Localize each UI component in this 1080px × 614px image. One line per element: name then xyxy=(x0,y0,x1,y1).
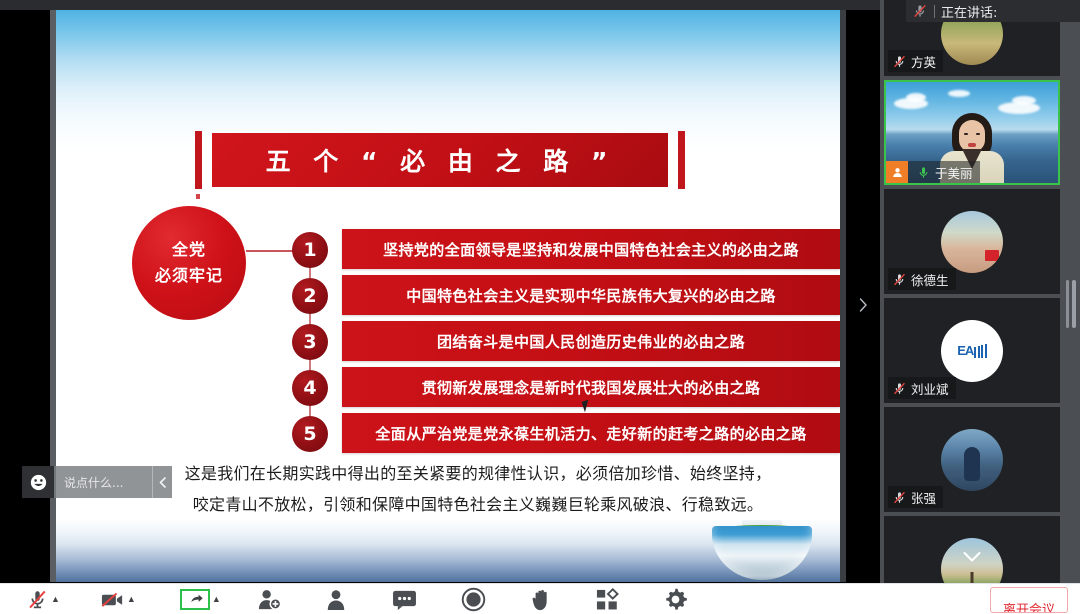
title-accent-right xyxy=(678,131,685,189)
banner-divider xyxy=(934,5,935,18)
participant-tile[interactable]: EA 刘业斌 xyxy=(884,298,1060,403)
item-number: 2 xyxy=(292,278,328,314)
chevron-up-icon[interactable]: ▲ xyxy=(212,595,221,604)
mic-muted-icon[interactable] xyxy=(26,588,49,611)
mic-muted-icon xyxy=(912,3,928,19)
item-text: 团结奋斗是中国人民创造历史伟业的必由之路 xyxy=(437,331,745,352)
globe-bowl-decoration xyxy=(708,520,816,582)
slide-title-banner: 五 个 “ 必 由 之 路 ” xyxy=(195,131,685,189)
participant-name: 张强 xyxy=(911,488,936,507)
sidebar-scrollbar-thumb[interactable] xyxy=(1072,280,1076,328)
participants-button[interactable] xyxy=(324,584,348,614)
participant-name-chip: 于美丽 xyxy=(886,161,980,183)
record-circle-icon[interactable] xyxy=(461,587,486,612)
person-icon[interactable] xyxy=(324,588,348,611)
participant-name-chip: 张强 xyxy=(888,486,943,508)
slide-badge-circle: 全党 必须牢记 xyxy=(132,206,246,320)
share-screen-icon[interactable] xyxy=(180,589,210,610)
item-bar: 中国特色社会主义是实现中华民族伟大复兴的必由之路 xyxy=(342,275,840,315)
leave-meeting-label: 离开会议 xyxy=(1003,599,1055,614)
shared-window-titlebar xyxy=(0,0,880,10)
meeting-window: 五 个 “ 必 由 之 路 ” 全党 必须牢记 1 坚持党的全面领导是坚持和发展… xyxy=(0,0,1080,614)
chat-button[interactable] xyxy=(392,584,417,614)
speaking-now-banner: 正在讲话: xyxy=(906,0,1080,22)
participant-tile[interactable]: 徐德生 xyxy=(884,189,1060,294)
mic-muted-icon xyxy=(892,54,907,69)
slide-paragraph: 这是我们在长期实践中得出的至关紧要的规律性认识，必须倍加珍惜、始终坚持， 咬定青… xyxy=(128,458,828,520)
stop-video-button[interactable]: ▲ xyxy=(100,584,136,614)
slide-list-item: 4 贯彻新发展理念是新时代我国发展壮大的必由之路 xyxy=(292,367,840,413)
item-text: 中国特色社会主义是实现中华民族伟大复兴的必由之路 xyxy=(406,285,776,306)
chevron-up-icon[interactable]: ▲ xyxy=(51,595,60,604)
badge-line-2: 必须牢记 xyxy=(155,263,223,289)
participant-name: 方英 xyxy=(911,52,936,71)
item-number: 1 xyxy=(292,232,328,268)
paragraph-line-1: 这是我们在长期实践中得出的至关紧要的规律性认识，必须倍加珍惜、始终坚持， xyxy=(128,458,828,489)
speaking-now-label: 正在讲话: xyxy=(941,2,997,21)
slide-list-item: 2 中国特色社会主义是实现中华民族伟大复兴的必由之路 xyxy=(292,275,840,321)
title-accent-left xyxy=(195,131,202,189)
participant-name: 于美丽 xyxy=(935,163,973,182)
chevron-left-icon xyxy=(159,477,166,488)
leave-meeting-button[interactable]: 离开会议 xyxy=(990,587,1068,613)
participants-sidebar: 正在讲话: 方英 xyxy=(880,0,1080,583)
participant-name-chip: 徐德生 xyxy=(888,268,956,290)
item-text: 坚持党的全面领导是坚持和发展中国特色社会主义的必由之路 xyxy=(383,239,799,260)
mic-muted-icon xyxy=(892,381,907,396)
slide-item-list: 1 坚持党的全面领导是坚持和发展中国特色社会主义的必由之路 2 中国特色社会主义… xyxy=(292,229,840,459)
slide-title: 五 个 “ 必 由 之 路 ” xyxy=(266,142,615,178)
chat-bubble-icon[interactable] xyxy=(392,589,417,610)
item-number: 4 xyxy=(292,370,328,406)
host-badge xyxy=(886,161,908,183)
settings-button[interactable] xyxy=(663,584,688,614)
participant-name-chip: 方英 xyxy=(888,50,943,72)
slide-list-item: 3 团结奋斗是中国人民创造历史伟业的必由之路 xyxy=(292,321,840,367)
bowl-body xyxy=(712,526,812,580)
item-text: 全面从严治党是党永葆生机活力、走好新的赶考之路的必由之路 xyxy=(375,423,806,444)
apps-grid-icon[interactable] xyxy=(595,588,619,611)
raise-hand-icon[interactable] xyxy=(530,588,553,612)
shared-window-right-edge xyxy=(840,10,846,582)
meeting-toolbar: ▲ ▲ xyxy=(0,583,1080,614)
participant-name: 徐德生 xyxy=(911,270,949,289)
mic-active-icon xyxy=(916,165,931,180)
chevron-right-icon xyxy=(859,298,868,312)
chevron-up-icon[interactable]: ▲ xyxy=(127,595,136,604)
eaw-logo-icon: EA xyxy=(957,343,987,358)
raise-hand-button[interactable] xyxy=(530,584,553,614)
gear-icon[interactable] xyxy=(663,587,688,612)
participant-name: 刘业斌 xyxy=(911,379,949,398)
person-icon xyxy=(891,166,904,179)
participant-tile-active-speaker[interactable]: 于美丽 xyxy=(884,80,1060,185)
participant-tile-list: 方英 xyxy=(884,0,1070,583)
participant-tile[interactable] xyxy=(884,516,1060,583)
avatar xyxy=(941,429,1003,491)
chat-input-placeholder: 说点什么... xyxy=(64,474,123,491)
title-tick-mark xyxy=(196,194,200,199)
add-person-icon[interactable] xyxy=(257,588,282,611)
item-text: 贯彻新发展理念是新时代我国发展壮大的必由之路 xyxy=(422,377,761,398)
chat-input[interactable]: 说点什么... xyxy=(54,466,152,498)
item-bar: 全面从严治党是党永葆生机活力、走好新的赶考之路的必由之路 xyxy=(342,413,840,453)
presentation-slide: 五 个 “ 必 由 之 路 ” 全党 必须牢记 1 坚持党的全面领导是坚持和发展… xyxy=(56,10,840,582)
sidebar-scrollbar-track[interactable] xyxy=(1066,280,1069,328)
shared-screen-stage: 五 个 “ 必 由 之 路 ” 全党 必须牢记 1 坚持党的全面领导是坚持和发展… xyxy=(0,0,880,583)
chat-entry-bar[interactable]: 说点什么... xyxy=(22,466,172,498)
paragraph-line-2: 咬定青山不放松，引领和保障中国特色社会主义巍巍巨轮乘风破浪、行稳致远。 xyxy=(128,489,828,520)
avatar xyxy=(941,211,1003,273)
sidebar-expand-button[interactable] xyxy=(855,292,871,318)
mic-muted-icon xyxy=(892,272,907,287)
chat-collapse-button[interactable] xyxy=(152,466,172,498)
item-number: 5 xyxy=(292,416,328,452)
mic-muted-icon xyxy=(892,490,907,505)
camera-muted-icon[interactable] xyxy=(100,589,125,611)
title-box: 五 个 “ 必 由 之 路 ” xyxy=(212,133,668,187)
badge-connector-horizontal xyxy=(246,250,296,252)
chevron-down-icon[interactable] xyxy=(962,550,982,568)
item-bar: 坚持党的全面领导是坚持和发展中国特色社会主义的必由之路 xyxy=(342,229,840,269)
item-number: 3 xyxy=(292,324,328,360)
invite-button[interactable] xyxy=(257,584,282,614)
participant-tile[interactable]: 张强 xyxy=(884,407,1060,512)
emoji-smile-icon[interactable] xyxy=(22,466,54,498)
record-button[interactable] xyxy=(461,584,486,614)
bowl-shadow xyxy=(708,576,816,582)
share-screen-button[interactable]: ▲ xyxy=(180,584,221,614)
badge-line-1: 全党 xyxy=(172,237,206,263)
slide-list-item: 5 全面从严治党是党永葆生机活力、走好新的赶考之路的必由之路 xyxy=(292,413,840,459)
item-bar: 团结奋斗是中国人民创造历史伟业的必由之路 xyxy=(342,321,840,361)
avatar: EA xyxy=(941,320,1003,382)
mute-audio-button[interactable]: ▲ xyxy=(26,584,60,614)
participant-name-chip: 刘业斌 xyxy=(888,377,956,399)
more-apps-button[interactable] xyxy=(595,584,619,614)
slide-list-item: 1 坚持党的全面领导是坚持和发展中国特色社会主义的必由之路 xyxy=(292,229,840,275)
